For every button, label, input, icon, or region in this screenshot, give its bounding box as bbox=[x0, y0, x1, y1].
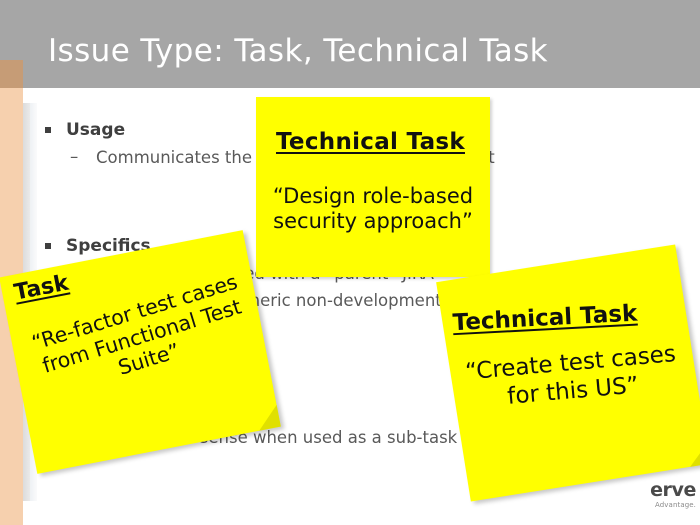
logo-tagline: Advantage. bbox=[600, 502, 696, 509]
slide-canvas: Issue Type: Task, Technical Task Usage –… bbox=[0, 0, 700, 525]
logo-wordmark: erve bbox=[600, 481, 696, 500]
left-accent-strip-upper bbox=[0, 60, 23, 88]
note-corner-fold-icon bbox=[687, 444, 700, 467]
sticky-note-technical-task-right[interactable]: Technical Task “Create test cases for th… bbox=[436, 244, 700, 501]
sticky-note-body: “Design role-based security approach” bbox=[264, 184, 482, 234]
square-bullet-icon bbox=[45, 127, 51, 133]
sticky-note-title: Task bbox=[12, 271, 71, 306]
sticky-note-technical-task-top[interactable]: Technical Task “Design role-based securi… bbox=[256, 97, 490, 277]
dash-bullet-icon: – bbox=[70, 146, 78, 168]
note-corner-fold-icon bbox=[255, 405, 281, 431]
sticky-note-body: “Create test cases for this US” bbox=[457, 340, 687, 415]
square-bullet-icon bbox=[45, 243, 51, 249]
company-logo: erve Advantage. bbox=[600, 481, 696, 521]
sticky-note-title: Technical Task bbox=[276, 129, 465, 155]
bullet-heading-label: Usage bbox=[66, 120, 125, 140]
page-title: Issue Type: Task, Technical Task bbox=[48, 33, 548, 69]
sticky-note-title: Technical Task bbox=[452, 301, 638, 337]
